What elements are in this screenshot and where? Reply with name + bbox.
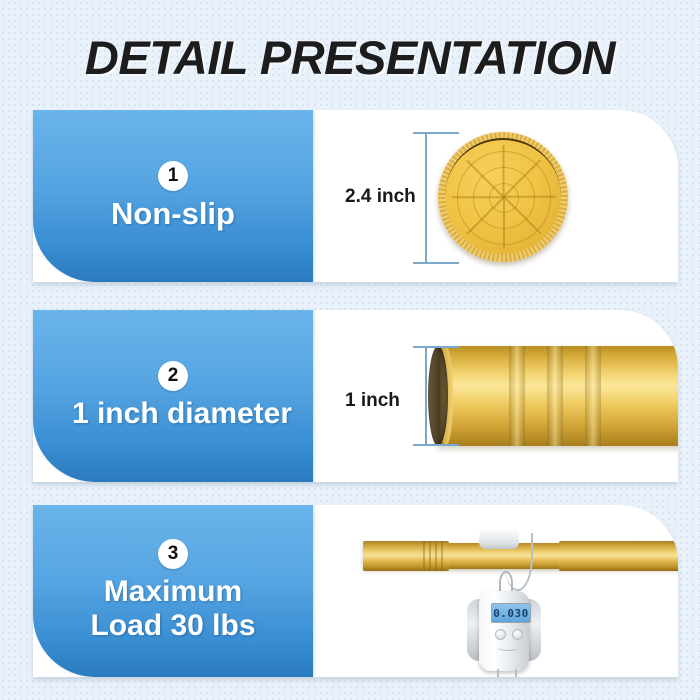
feature-label-2: 1 inch diameter xyxy=(72,397,292,431)
scale-bottom-hook-icon xyxy=(497,669,517,677)
digital-luggage-scale: 0.030 xyxy=(473,585,535,671)
page-title-container: DETAIL PRESENTATION xyxy=(0,22,700,92)
rod-rib xyxy=(429,541,431,571)
dimension-label-2: 1 inch xyxy=(345,390,400,412)
scale-button-right[interactable] xyxy=(512,629,523,640)
disc-spoke xyxy=(503,145,505,197)
scale-lcd-display: 0.030 xyxy=(491,603,531,623)
dimension-label-1: 2.4 inch xyxy=(345,186,416,208)
curtain-rod-image xyxy=(363,543,678,569)
disc-spoke xyxy=(503,197,505,249)
page-title: DETAIL PRESENTATION xyxy=(85,30,615,85)
tube-groove xyxy=(509,346,525,446)
feature-label-3-line2: Load 30 lbs xyxy=(48,609,298,643)
rod-rib xyxy=(441,541,443,571)
bracket-vertical-line xyxy=(425,346,427,446)
tube-groove xyxy=(547,346,563,446)
detail-presentation-page: DETAIL PRESENTATION 1 Non-slip 2.4 inch xyxy=(0,0,700,700)
rod-rib xyxy=(435,541,437,571)
measurement-bracket-2 xyxy=(425,346,471,446)
bracket-cap-bottom xyxy=(413,262,459,264)
feature-card-1: 1 Non-slip 2.4 inch xyxy=(33,110,678,282)
step-badge-3: 3 xyxy=(158,539,188,569)
bracket-vertical-line xyxy=(425,132,427,264)
scale-decoration xyxy=(497,643,519,651)
rod-tube-image xyxy=(437,346,678,446)
tube-groove xyxy=(585,346,601,446)
feature-card-3: 3 Maximum Load 30 lbs 0.030 xyxy=(33,505,678,677)
scale-button-left[interactable] xyxy=(495,629,506,640)
feature-card-2: 2 1 inch diameter 1 inch xyxy=(33,310,678,482)
feature-panel-3: 3 Maximum Load 30 lbs xyxy=(33,505,313,677)
feature-panel-1: 1 Non-slip xyxy=(33,110,313,282)
bracket-cap-bottom xyxy=(413,444,459,446)
feature-label-1: Non-slip xyxy=(111,197,235,232)
rod-segment-right xyxy=(559,541,678,571)
feature-label-3-line1: Maximum xyxy=(48,575,298,609)
measurement-bracket-1 xyxy=(425,132,471,264)
bracket-cap-top xyxy=(413,132,459,134)
feature-panel-2: 2 1 inch diameter xyxy=(33,310,313,482)
bracket-cap-top xyxy=(413,346,459,348)
scale-body: 0.030 xyxy=(479,591,529,671)
step-badge-1: 1 xyxy=(158,161,188,191)
step-badge-2: 2 xyxy=(158,361,188,391)
disc-spoke xyxy=(504,196,556,198)
rod-rib xyxy=(423,541,425,571)
